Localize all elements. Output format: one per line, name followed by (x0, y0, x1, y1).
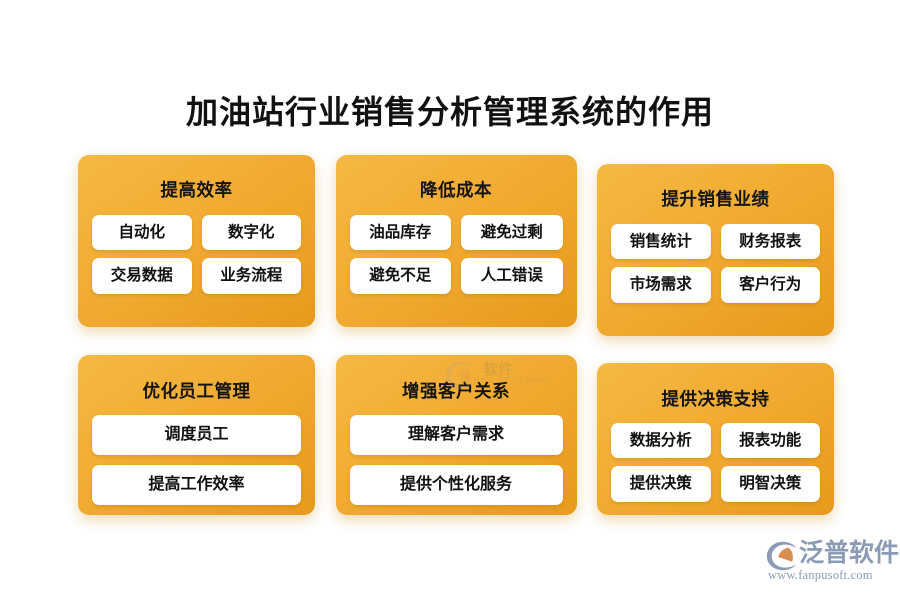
card-items: 调度员工 提高工作效率 (92, 415, 301, 505)
card-item-chip[interactable]: 提供决策 (611, 466, 711, 502)
card-enhance-customer-relations[interactable]: 增强客户关系 理解客户需求 提供个性化服务 (336, 355, 577, 515)
card-item-chip[interactable]: 油品库存 (350, 215, 452, 251)
page-title: 加油站行业销售分析管理系统的作用 (0, 94, 900, 131)
card-title: 提供决策支持 (611, 373, 820, 423)
card-title: 增强客户关系 (350, 365, 563, 415)
card-improve-efficiency[interactable]: 提高效率 自动化 数字化 交易数据 业务流程 (78, 155, 315, 327)
card-item-chip[interactable]: 销售统计 (611, 224, 711, 260)
card-item-chip[interactable]: 客户行为 (721, 267, 821, 303)
card-item-chip[interactable]: 理解客户需求 (350, 415, 563, 455)
card-item-chip[interactable]: 避免过剩 (461, 215, 563, 251)
card-item-chip[interactable]: 明智决策 (721, 466, 821, 502)
card-title: 降低成本 (350, 165, 563, 215)
brand-logo-name: 泛普软件 (799, 538, 899, 568)
infographic-canvas: 加油站行业销售分析管理系统的作用 提高效率 自动化 数字化 交易数据 业务流程 … (0, 0, 900, 600)
card-item-chip[interactable]: 调度员工 (92, 415, 301, 455)
card-items: 自动化 数字化 交易数据 业务流程 (92, 215, 301, 294)
card-decision-support[interactable]: 提供决策支持 数据分析 报表功能 提供决策 明智决策 (597, 363, 834, 515)
card-item-chip[interactable]: 交易数据 (92, 258, 192, 294)
card-item-chip[interactable]: 市场需求 (611, 267, 711, 303)
card-items: 数据分析 报表功能 提供决策 明智决策 (611, 423, 820, 502)
card-item-chip[interactable]: 自动化 (92, 215, 192, 251)
brand-logo-url: www.fanpusoft.com (768, 568, 873, 583)
card-items: 油品库存 避免过剩 避免不足 人工错误 (350, 215, 563, 294)
card-item-chip[interactable]: 报表功能 (721, 423, 821, 459)
fanpu-swoosh-icon (766, 541, 799, 571)
card-item-chip[interactable]: 提高工作效率 (92, 465, 301, 505)
card-items: 销售统计 财务报表 市场需求 客户行为 (611, 224, 820, 303)
card-item-chip[interactable]: 人工错误 (461, 258, 563, 294)
card-items: 理解客户需求 提供个性化服务 (350, 415, 563, 505)
card-title: 优化员工管理 (92, 365, 301, 415)
card-boost-sales[interactable]: 提升销售业绩 销售统计 财务报表 市场需求 客户行为 (597, 164, 834, 336)
card-optimize-staff[interactable]: 优化员工管理 调度员工 提高工作效率 (78, 355, 315, 515)
card-grid: 提高效率 自动化 数字化 交易数据 业务流程 降低成本 油品库存 避免过剩 避免… (78, 155, 834, 515)
card-item-chip[interactable]: 数据分析 (611, 423, 711, 459)
card-item-chip[interactable]: 财务报表 (721, 224, 821, 260)
card-item-chip[interactable]: 提供个性化服务 (350, 465, 563, 505)
card-item-chip[interactable]: 数字化 (202, 215, 302, 251)
card-item-chip[interactable]: 避免不足 (350, 258, 452, 294)
card-title: 提高效率 (92, 165, 301, 215)
card-title: 提升销售业绩 (611, 174, 820, 224)
card-item-chip[interactable]: 业务流程 (202, 258, 302, 294)
card-reduce-cost[interactable]: 降低成本 油品库存 避免过剩 避免不足 人工错误 (336, 155, 577, 327)
brand-logo: 泛普软件 www.fanpusoft.com (766, 538, 892, 584)
